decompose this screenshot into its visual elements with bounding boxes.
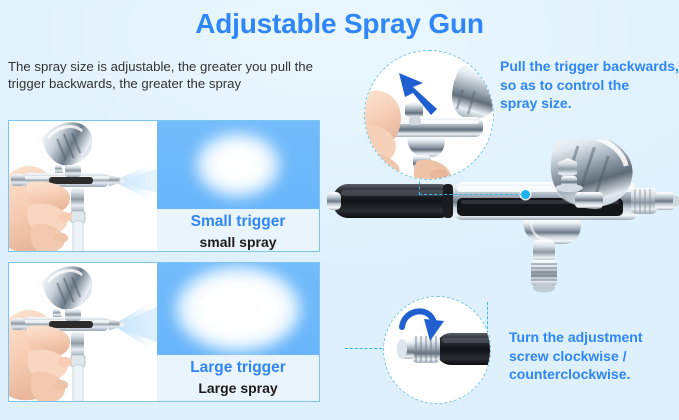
comparison-panel-small: Small trigger small spray [8, 120, 320, 252]
spray-pattern-small [157, 121, 319, 209]
callout-bottom: Turn the adjustment screw clockwise / co… [509, 328, 679, 384]
airbrush-hand-photo-small [9, 121, 159, 251]
callout-bottom-line3: counterclockwise. [509, 365, 679, 384]
spray-result-large: Large trigger Large spray [157, 263, 319, 401]
comparison-panel-large: Large trigger Large spray [8, 262, 320, 402]
callout-top: Pull the trigger backwards, so as to con… [500, 57, 679, 113]
adjustment-screw-closeup-illustration [384, 297, 490, 403]
inset-trigger-closeup [364, 50, 494, 180]
page-title: Adjustable Spray Gun [0, 8, 679, 40]
spray-blob-small [195, 132, 281, 198]
caption-main-small: Small trigger [157, 209, 319, 233]
leader-line-screw-horizontal [345, 348, 387, 349]
hand-airbrush-illustration [9, 263, 159, 401]
callout-bottom-line2: screw clockwise / [509, 347, 679, 366]
spray-blob-large [175, 266, 301, 352]
airbrush-hand-photo-large [9, 263, 159, 401]
caption-sub-small: small spray [157, 233, 319, 251]
leader-line-trigger-horizontal [419, 194, 523, 195]
hand-airbrush-illustration [9, 121, 159, 251]
callout-top-line2: so as to control the [500, 76, 679, 95]
callout-bottom-line1: Turn the adjustment [509, 328, 679, 347]
trigger-closeup-illustration [365, 51, 493, 179]
callout-top-line3: spray size. [500, 94, 679, 113]
infographic-page: Adjustable Spray Gun The spray size is a… [0, 0, 679, 420]
caption-large: Large trigger Large spray [157, 355, 319, 402]
caption-main-large: Large trigger [157, 355, 319, 379]
main-airbrush-product-photo [325, 140, 679, 360]
callout-top-line1: Pull the trigger backwards, [500, 57, 679, 76]
inset-screw-closeup [383, 296, 491, 404]
caption-sub-large: Large spray [157, 379, 319, 397]
spray-result-small: Small trigger small spray [157, 121, 319, 251]
spray-pattern-large [157, 263, 319, 355]
intro-paragraph: The spray size is adjustable, the greate… [8, 58, 326, 92]
caption-small: Small trigger small spray [157, 209, 319, 252]
